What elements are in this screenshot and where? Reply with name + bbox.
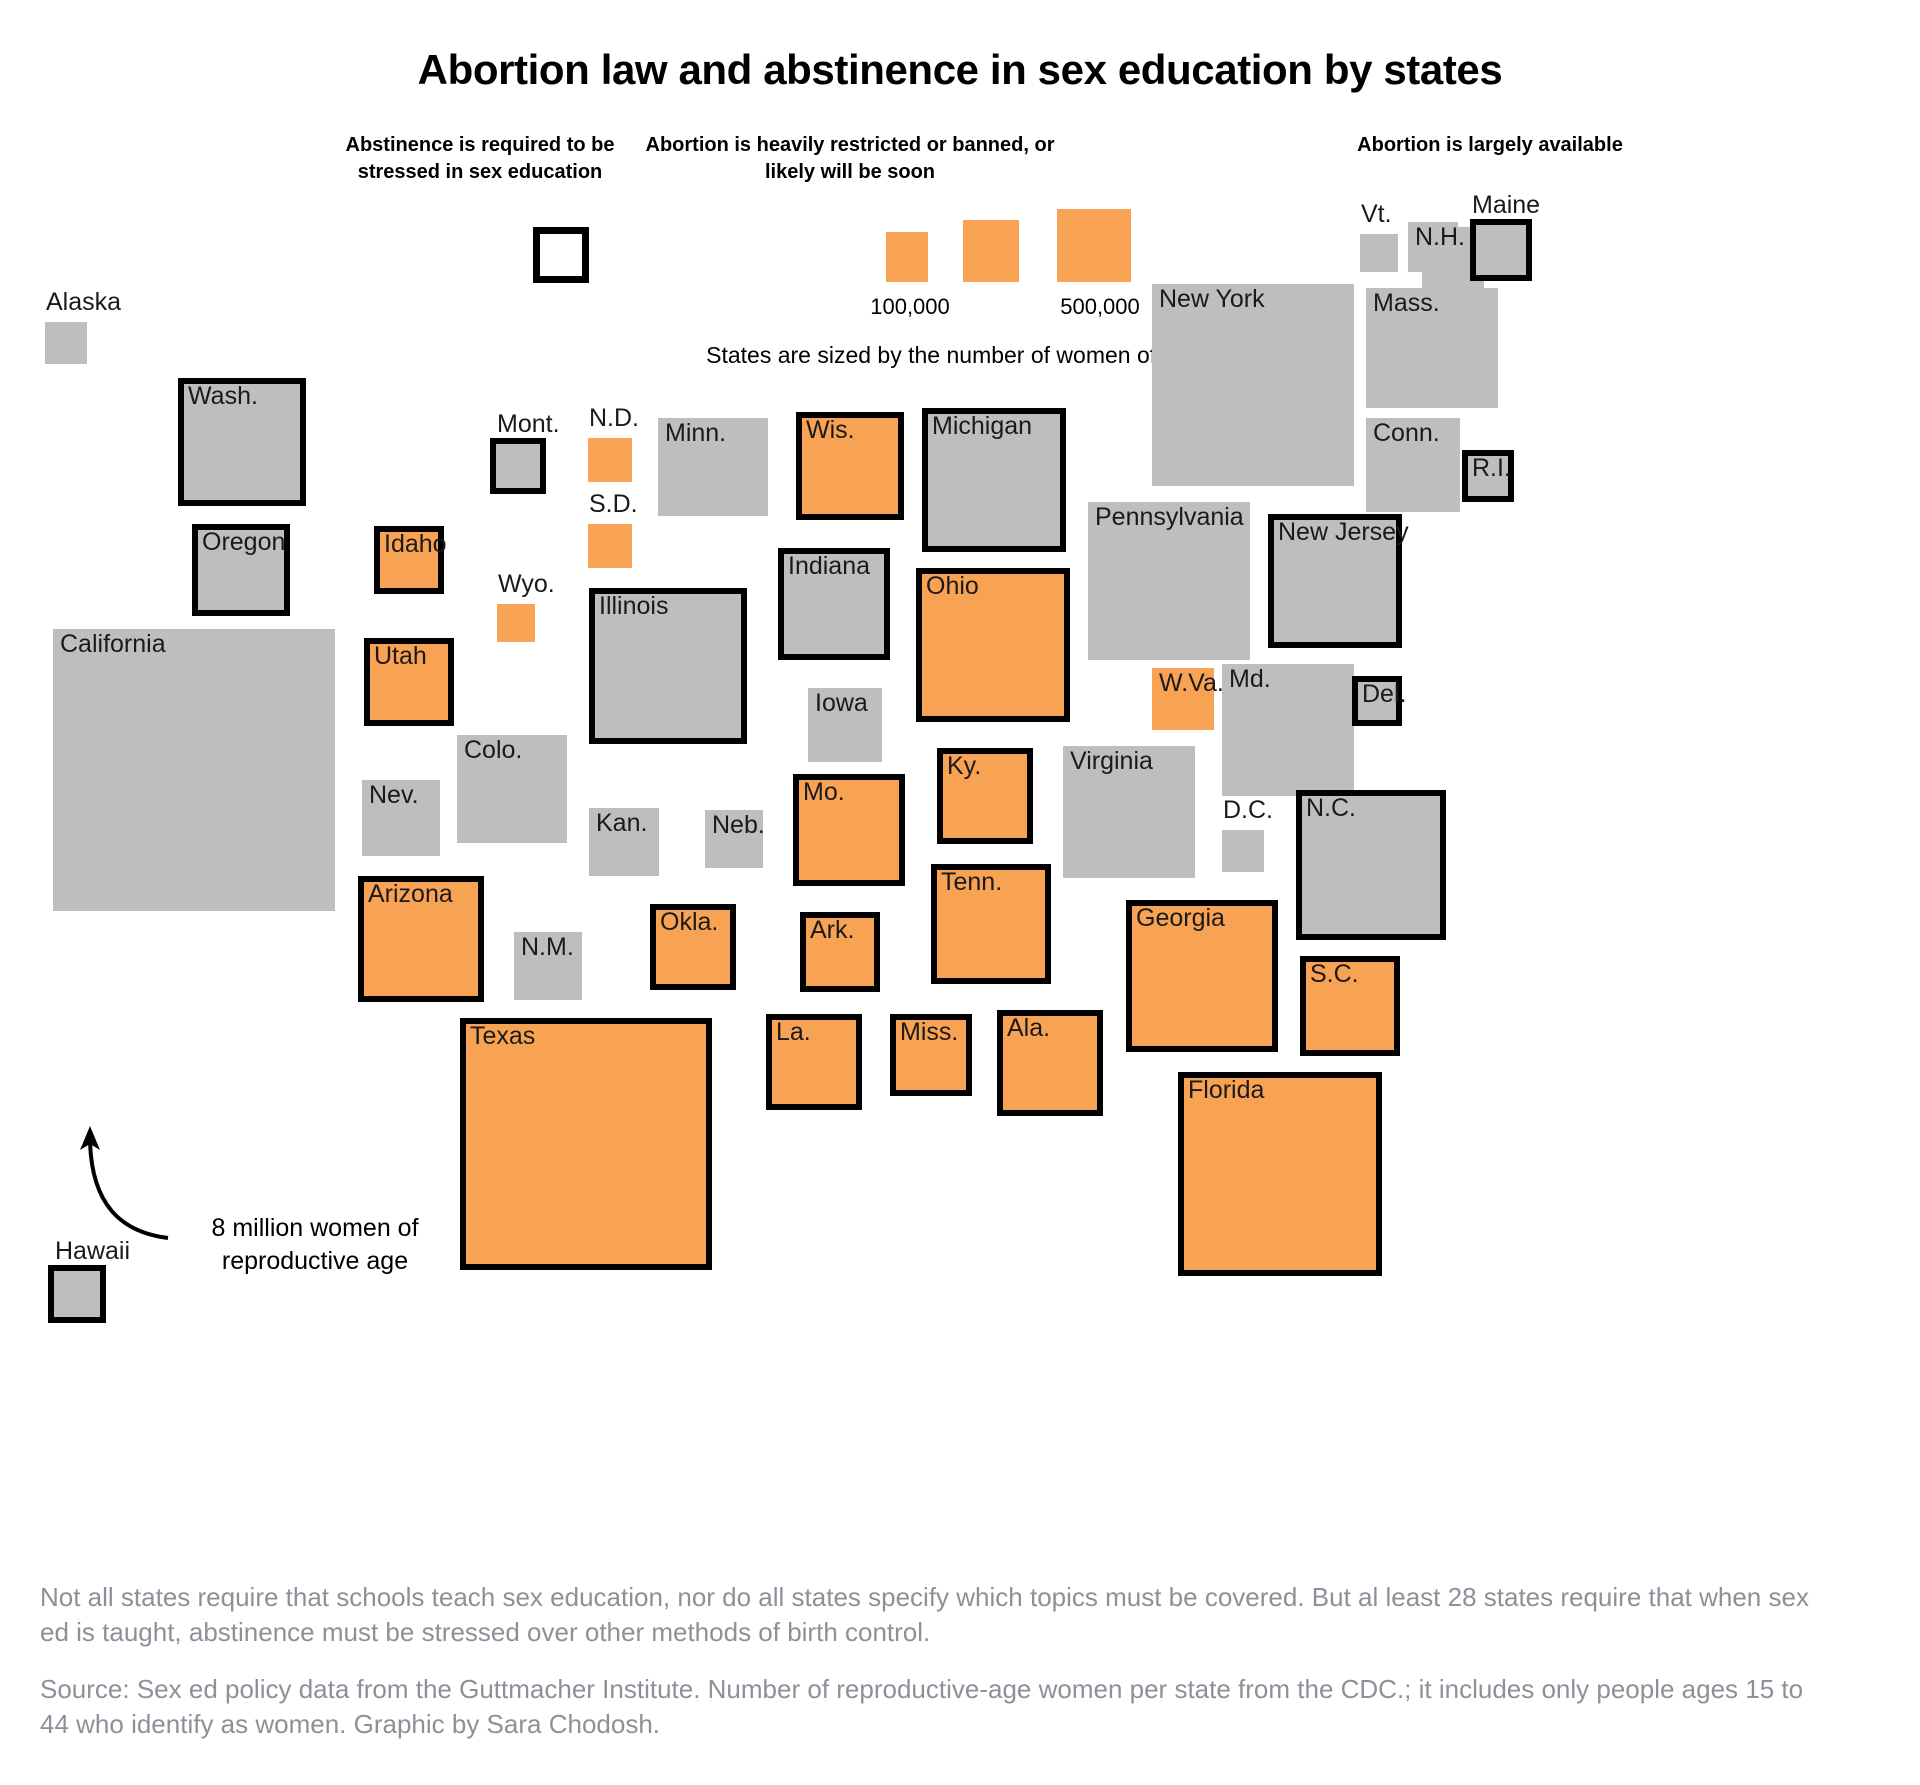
state-tile-vermont[interactable]: Vt. xyxy=(1360,234,1398,272)
state-tile-maryland[interactable]: Md. xyxy=(1222,664,1354,796)
state-tile-oregon[interactable]: Oregon xyxy=(192,524,290,616)
california-callout-text: 8 million women of reproductive age xyxy=(150,1212,480,1278)
state-tile-missouri[interactable]: Mo. xyxy=(793,774,905,886)
state-label: Illinois xyxy=(599,593,668,619)
state-label: Wyo. xyxy=(498,571,555,597)
state-tile-mississippi[interactable]: Miss. xyxy=(890,1014,972,1096)
state-tile-arizona[interactable]: Arizona xyxy=(358,876,484,1002)
state-label: D.C. xyxy=(1223,797,1273,823)
state-label: Tenn. xyxy=(941,869,1002,895)
state-label: Arizona xyxy=(368,881,453,907)
state-label: Miss. xyxy=(900,1019,958,1045)
legend-swatch-abstinence xyxy=(533,227,589,283)
state-tile-new-mexico[interactable]: N.M. xyxy=(514,932,582,1000)
state-label: Florida xyxy=(1188,1077,1264,1103)
state-tile-montana[interactable]: Mont. xyxy=(490,438,546,494)
state-tile-ohio[interactable]: Ohio xyxy=(916,568,1070,722)
state-tile-new-jersey[interactable]: New Jersey xyxy=(1268,514,1402,648)
state-tile-wyoming[interactable]: Wyo. xyxy=(497,604,535,642)
legend-size-swatch-small xyxy=(886,232,928,282)
state-label: Ky. xyxy=(947,753,981,779)
state-tile-district-of-columbia[interactable]: D.C. xyxy=(1222,830,1264,872)
state-tile-north-dakota[interactable]: N.D. xyxy=(588,438,632,482)
state-label: California xyxy=(60,631,166,657)
state-tile-west-virginia[interactable]: W.Va. xyxy=(1152,668,1214,730)
state-label: Idaho xyxy=(384,531,447,557)
state-tile-tennessee[interactable]: Tenn. xyxy=(931,864,1051,984)
state-tile-nebraska[interactable]: Neb. xyxy=(705,810,763,868)
state-label: Utah xyxy=(374,643,427,669)
state-tile-new-hampshire[interactable]: N.H. xyxy=(1408,222,1458,272)
legend-size-label-large: 500,000 xyxy=(1035,294,1165,320)
state-tile-delaware[interactable]: Del. xyxy=(1352,676,1402,726)
state-label: Mo. xyxy=(803,779,845,805)
state-label: Wis. xyxy=(806,417,855,443)
state-tile-michigan[interactable]: Michigan xyxy=(922,408,1066,552)
state-label: Neb. xyxy=(712,812,765,838)
legend-size-swatch-medium xyxy=(963,220,1019,282)
state-label: Md. xyxy=(1229,666,1271,692)
state-tile-florida[interactable]: Florida xyxy=(1178,1072,1382,1276)
state-label: Alaska xyxy=(46,289,121,315)
state-tile-colorado[interactable]: Colo. xyxy=(457,735,567,843)
state-label: R.I. xyxy=(1472,455,1511,481)
state-label: Ark. xyxy=(810,917,854,943)
state-tile-south-dakota[interactable]: S.D. xyxy=(588,524,632,568)
state-label: N.D. xyxy=(589,405,639,431)
state-tile-washington[interactable]: Wash. xyxy=(178,378,306,506)
state-tile-louisiana[interactable]: La. xyxy=(766,1014,862,1110)
state-label: Georgia xyxy=(1136,905,1225,931)
state-label: Texas xyxy=(470,1023,535,1049)
state-label: Mass. xyxy=(1373,290,1440,316)
state-label: Nev. xyxy=(369,782,419,808)
legend-heading-abstinence: Abstinence is required to be stressed in… xyxy=(330,132,630,186)
state-label: Minn. xyxy=(665,420,726,446)
state-label: Maine xyxy=(1472,192,1540,218)
state-tile-iowa[interactable]: Iowa xyxy=(808,688,882,762)
state-tile-maine[interactable]: Maine xyxy=(1470,219,1532,281)
state-tile-utah[interactable]: Utah xyxy=(364,638,454,726)
state-label: Pennsylvania xyxy=(1095,504,1244,530)
state-label: N.C. xyxy=(1306,795,1356,821)
state-tile-virginia[interactable]: Virginia xyxy=(1063,746,1195,878)
state-label: W.Va. xyxy=(1159,670,1224,696)
state-tile-pennsylvania[interactable]: Pennsylvania xyxy=(1088,502,1250,660)
state-tile-nevada[interactable]: Nev. xyxy=(362,780,440,856)
state-tile-oklahoma[interactable]: Okla. xyxy=(650,904,736,990)
state-label: Iowa xyxy=(815,690,868,716)
state-label: Virginia xyxy=(1070,748,1153,774)
footnote-source: Source: Sex ed policy data from the Gutt… xyxy=(40,1672,1920,1742)
state-tile-south-carolina[interactable]: S.C. xyxy=(1300,956,1400,1056)
state-tile-wisconsin[interactable]: Wis. xyxy=(796,412,904,520)
state-label: Conn. xyxy=(1373,420,1440,446)
state-label: Colo. xyxy=(464,737,522,763)
state-tile-hawaii[interactable]: Hawaii xyxy=(48,1265,106,1323)
legend-size-label-small: 100,000 xyxy=(845,294,975,320)
state-tile-kansas[interactable]: Kan. xyxy=(589,808,659,876)
state-label: Wash. xyxy=(188,383,258,409)
state-tile-illinois[interactable]: Illinois xyxy=(589,588,747,744)
state-tile-connecticut[interactable]: Conn. xyxy=(1366,418,1460,512)
page-title: Abortion law and abstinence in sex educa… xyxy=(0,46,1920,94)
state-tile-kentucky[interactable]: Ky. xyxy=(937,748,1033,844)
state-tile-alaska[interactable]: Alaska xyxy=(45,322,87,364)
infographic-canvas: Abortion law and abstinence in sex educa… xyxy=(0,0,1920,1785)
state-label: La. xyxy=(776,1019,811,1045)
state-tile-indiana[interactable]: Indiana xyxy=(778,548,890,660)
state-tile-new-york[interactable]: New York xyxy=(1152,284,1354,486)
state-label: Kan. xyxy=(596,810,647,836)
state-label: Vt. xyxy=(1361,201,1392,227)
state-tile-california[interactable]: California xyxy=(53,629,335,911)
legend-size-swatch-large xyxy=(1057,209,1131,282)
state-label: N.H. xyxy=(1415,224,1465,250)
state-label: Michigan xyxy=(932,413,1032,439)
state-tile-arkansas[interactable]: Ark. xyxy=(800,912,880,992)
state-tile-minnesota[interactable]: Minn. xyxy=(658,418,768,516)
state-label: Indiana xyxy=(788,553,870,579)
footnote-note: Not all states require that schools teac… xyxy=(40,1580,1920,1650)
state-tile-idaho[interactable]: Idaho xyxy=(374,526,444,594)
state-label: New Jersey xyxy=(1278,519,1409,545)
state-label: Okla. xyxy=(660,909,718,935)
state-label: Ala. xyxy=(1007,1015,1050,1041)
state-label: S.D. xyxy=(589,491,638,517)
state-label: Ohio xyxy=(926,573,979,599)
state-label: N.M. xyxy=(521,934,574,960)
state-label: Oregon xyxy=(202,529,285,555)
state-label: Del. xyxy=(1362,681,1406,707)
state-tile-alabama[interactable]: Ala. xyxy=(997,1010,1103,1116)
legend-heading-available: Abortion is largely available xyxy=(1340,132,1640,159)
state-tile-texas[interactable]: Texas xyxy=(460,1018,712,1270)
legend-heading-restricted: Abortion is heavily restricted or banned… xyxy=(640,132,1060,186)
state-tile-north-carolina[interactable]: N.C. xyxy=(1296,790,1446,940)
state-tile-rhode-island[interactable]: R.I. xyxy=(1462,450,1514,502)
state-label: New York xyxy=(1159,286,1265,312)
state-tile-massachusetts[interactable]: Mass. xyxy=(1366,288,1498,408)
state-label: S.C. xyxy=(1310,961,1359,987)
state-label: Mont. xyxy=(497,411,560,437)
state-tile-georgia[interactable]: Georgia xyxy=(1126,900,1278,1052)
